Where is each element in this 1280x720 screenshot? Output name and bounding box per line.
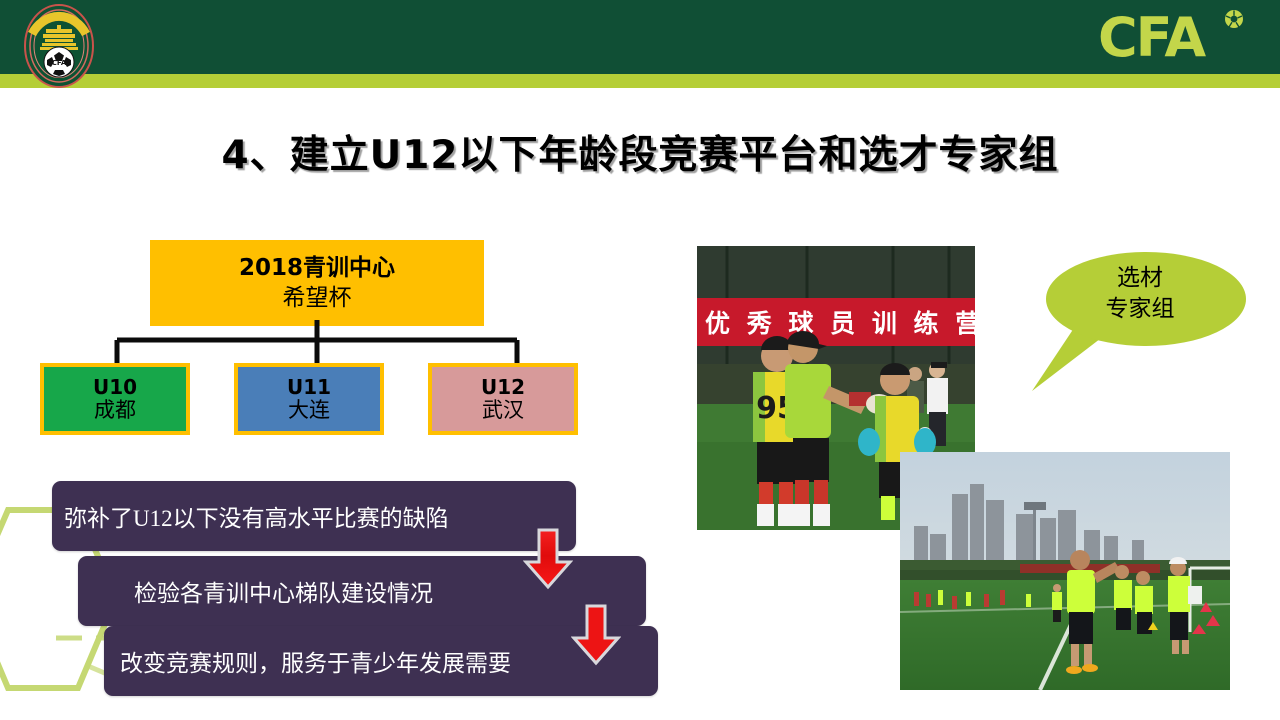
statement-box-2-text: 检验各青训中心梯队建设情况 xyxy=(134,574,433,608)
down-arrow-icon-1 xyxy=(523,528,573,590)
svg-text:CFA: CFA xyxy=(1098,8,1206,66)
org-root-line1: 2018青训中心 xyxy=(239,255,395,282)
cfa-wordmark: CFA xyxy=(1098,8,1248,66)
callout-line2: 专家组 xyxy=(1060,293,1220,324)
slide-canvas: CFA CFA 4、建立U12以下年龄段竞赛平台和选才专家组 xyxy=(0,0,1280,720)
down-arrow-icon-2 xyxy=(571,604,621,666)
org-node-u11-city: 大连 xyxy=(288,399,330,423)
statement-box-3-text: 改变竞赛规则，服务于青少年发展需要 xyxy=(120,644,511,678)
org-node-u12-code: U12 xyxy=(481,376,525,398)
org-node-u12-city: 武汉 xyxy=(482,399,524,423)
training-pitch-overview-photo xyxy=(900,452,1230,690)
org-node-u12[interactable]: U12 武汉 xyxy=(428,363,578,435)
org-node-u11-code: U11 xyxy=(287,376,331,398)
callout-text: 选材 专家组 xyxy=(1060,262,1220,324)
statement-box-1[interactable]: 弥补了U12以下没有高水平比赛的缺陷 xyxy=(52,481,576,551)
org-connectors xyxy=(0,320,640,368)
org-root-line2: 希望杯 xyxy=(283,284,352,311)
statement-box-1-text: 弥补了U12以下没有高水平比赛的缺陷 xyxy=(64,499,449,533)
org-node-u10-city: 成都 xyxy=(94,399,136,423)
svg-text:优 秀 球 员 训 练 营（: 优 秀 球 员 训 练 营（ xyxy=(705,309,975,338)
org-root-node[interactable]: 2018青训中心 希望杯 xyxy=(150,240,484,326)
org-node-u11[interactable]: U11 大连 xyxy=(234,363,384,435)
callout-line1: 选材 xyxy=(1060,262,1220,293)
org-chart: 2018青训中心 希望杯 U10 成都 U11 大连 U12 xyxy=(0,0,640,460)
org-node-u10[interactable]: U10 成都 xyxy=(40,363,190,435)
org-node-u10-code: U10 xyxy=(93,376,137,398)
